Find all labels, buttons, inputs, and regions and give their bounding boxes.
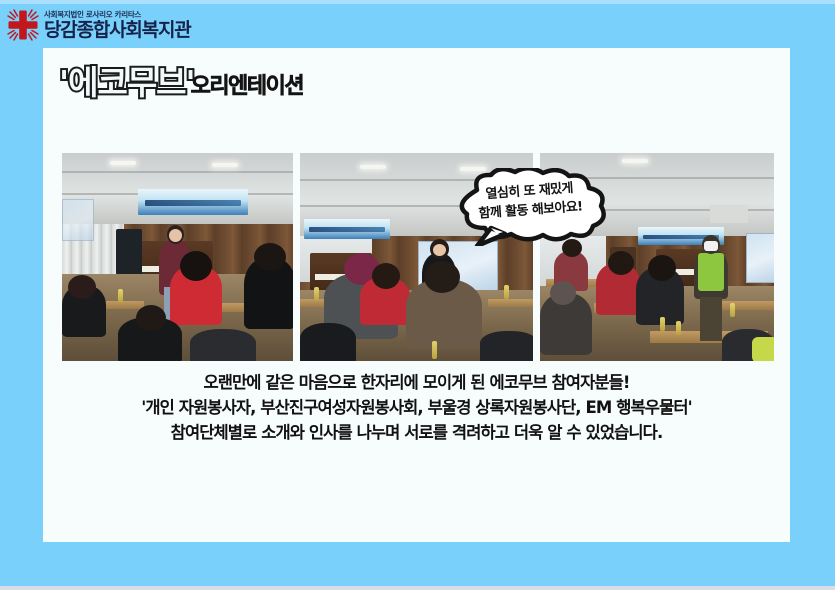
speaker-legs	[700, 297, 722, 341]
ceiling-line	[62, 171, 293, 173]
photo-presenter-with-microphone	[62, 153, 293, 361]
speech-bubble: 열심히 또 재밌게 함께 활동 해보아요!	[447, 168, 613, 246]
ceiling-light	[212, 163, 238, 167]
caption-block: 오랜만에 같은 마음으로 한자리에 모이게 된 에코무브 참여자분들! '개인 …	[43, 370, 790, 445]
projection-screen	[746, 233, 774, 283]
bottle	[730, 303, 735, 317]
organization-names: 사회복지법인 로사리오 카리타스 당감종합사회복지관	[44, 10, 191, 40]
event-banner	[304, 219, 390, 239]
green-bag	[752, 337, 774, 361]
table	[488, 299, 533, 307]
bottle	[660, 317, 665, 331]
slide-title: '에코무브' 오리엔테이션	[59, 66, 303, 99]
ceiling-light	[622, 159, 648, 163]
audience-member	[190, 329, 256, 361]
ceiling-light	[360, 165, 386, 169]
organization-header: 사회복지법인 로사리오 카리타스 당감종합사회복지관	[6, 5, 266, 45]
bottle	[432, 341, 437, 359]
caption-line-2: '개인 자원봉사자, 부산진구여성자원봉사회, 부울경 상록자원봉사단, EM …	[43, 395, 790, 420]
audience-member	[300, 323, 356, 361]
bottle	[118, 289, 123, 303]
audience-head	[550, 281, 576, 305]
caption-line-1: 오랜만에 같은 마음으로 한자리에 모이게 된 에코무브 참여자분들!	[43, 370, 790, 395]
event-banner	[138, 189, 248, 215]
projector	[710, 205, 748, 223]
audience-head	[424, 261, 460, 293]
bottle	[676, 321, 681, 335]
audience-head	[648, 255, 676, 281]
audience-head	[254, 243, 286, 271]
caritas-cross-icon	[6, 8, 40, 42]
audience-head	[608, 251, 634, 275]
slide-title-sub: 오리엔테이션	[191, 76, 303, 98]
side-screen	[62, 199, 94, 241]
face-mask	[704, 241, 718, 251]
presenter-face	[433, 244, 446, 256]
slide-title-main: '에코무브'	[59, 66, 195, 99]
presenter-face	[169, 229, 182, 242]
audience-head	[136, 305, 166, 331]
bottle	[504, 285, 509, 299]
audience-member	[480, 331, 533, 361]
photo-gallery	[62, 153, 774, 361]
bottle	[314, 287, 319, 301]
top-accent-strip	[0, 0, 835, 4]
green-safety-vest	[698, 253, 724, 291]
organization-name: 당감종합사회복지관	[44, 21, 191, 40]
ceiling-light	[110, 161, 136, 165]
photo-scene	[62, 153, 293, 361]
organization-subtitle: 사회복지법인 로사리오 카리타스	[44, 11, 191, 19]
content-card: '에코무브' 오리엔테이션	[43, 48, 790, 542]
audience-head	[180, 251, 212, 281]
speech-bubble-text: 열심히 또 재밌게 함께 활동 해보아요!	[445, 162, 615, 241]
audience-head	[68, 275, 96, 299]
bottom-accent-strip	[0, 586, 835, 590]
caption-line-3: 참여단체별로 소개와 인사를 나누며 서로를 격려하고 더욱 알 수 있었습니다…	[43, 420, 790, 445]
speaker-box	[116, 229, 142, 275]
slide-page: 사회복지법인 로사리오 카리타스 당감종합사회복지관 '에코무브' 오리엔테이션	[0, 0, 835, 590]
audience-head	[372, 263, 400, 289]
